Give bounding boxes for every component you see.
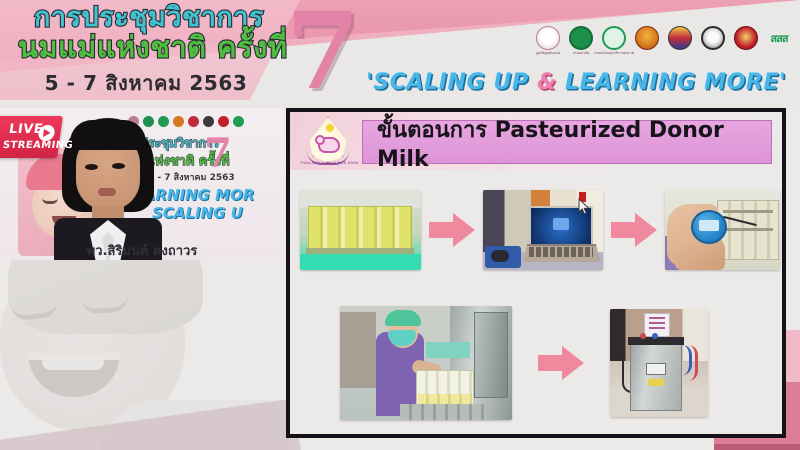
arrow-3-icon [538, 346, 584, 380]
conference-slogan: 'SCALING UP & LEARNING MORE' [366, 70, 786, 95]
conference-title-line2: นมแม่แห่งชาติ ครั้งที่ [18, 33, 288, 62]
logo-department-health-icon: กรมสนับสนุนบริการสุขภาพ [601, 26, 627, 60]
logo-caption: มูลนิธิศูนย์นมแม่ [536, 51, 560, 56]
logo-caption: กรมสนับสนุนบริการสุขภาพ [594, 51, 634, 56]
slogan-ampersand: & [537, 70, 557, 95]
streaming-badge-label: STREAMING [2, 140, 74, 151]
panel-title: ขั้นตอนการ Pasteurized Donor Milk [362, 120, 772, 164]
process-row-top [300, 184, 780, 276]
photo-temperature-probe [665, 190, 780, 270]
logo-nursing-council-icon [700, 26, 726, 60]
speaker-name: พว.สิริมนต์ คงถาวร [0, 240, 284, 261]
arrow-1-icon [429, 213, 475, 247]
slogan-part-2: LEARNING MORE' [557, 70, 787, 95]
logo-royal-thai-icon [667, 26, 693, 60]
content-panel: THAILAND HUMAN MILK BANK ขั้นตอนการ Past… [286, 108, 786, 438]
logo-thai-breastfeeding-foundation-icon: มูลนิธิศูนย์นมแม่ [535, 26, 561, 60]
conference-edition-number: 7 [286, 0, 360, 104]
human-milk-bank-logo-icon: THAILAND HUMAN MILK BANK [300, 115, 356, 171]
logo-royal-emblem-icon [634, 26, 660, 60]
logo-thaihealth-icon: สสส [766, 26, 792, 60]
backdrop-edition-number: 7 [204, 134, 232, 174]
photo-pasteurizer-machine [610, 309, 708, 417]
conference-title-line1: การประชุมวิชาการ [18, 4, 288, 31]
live-video-panel[interactable]: การประชุมวิชาการ นมแม่แห่งชาติ ครั้งที่ … [0, 108, 284, 260]
photo-milk-bottles-rack [300, 190, 421, 270]
photo-nurse-loading-bottles [340, 306, 512, 420]
logo-ministry-of-public-health-icon: กรมอนามัย [568, 26, 594, 60]
play-icon [37, 125, 55, 141]
mouse-cursor [578, 198, 590, 216]
live-streaming-badge: LIVE STREAMING [0, 116, 63, 158]
backdrop-slogan-line2: SCALING U [152, 204, 243, 222]
speaker-figure [52, 116, 164, 260]
conference-title-block: การประชุมวิชาการ นมแม่แห่งชาติ ครั้งที่ … [18, 4, 288, 99]
slide-stage: การประชุมวิชาการ นมแม่แห่งชาติ ครั้งที่ … [0, 0, 800, 450]
conference-date: 5 - 7 สิงหาคม 2563 [18, 67, 288, 99]
logo-thaihealth-text: สสส [767, 26, 791, 50]
corner-accent-deep [714, 444, 800, 450]
arrow-2-icon [611, 213, 657, 247]
slogan-part-1: 'SCALING UP [366, 70, 537, 95]
process-row-bottom [340, 302, 770, 424]
logo-caption: กรมอนามัย [573, 51, 590, 56]
organization-logos: มูลนิธิศูนย์นมแม่ กรมอนามัย กรมสนับสนุนบ… [535, 26, 792, 60]
logo-medical-council-icon [733, 26, 759, 60]
human-milk-bank-logo-caption: THAILAND HUMAN MILK BANK [300, 161, 356, 165]
